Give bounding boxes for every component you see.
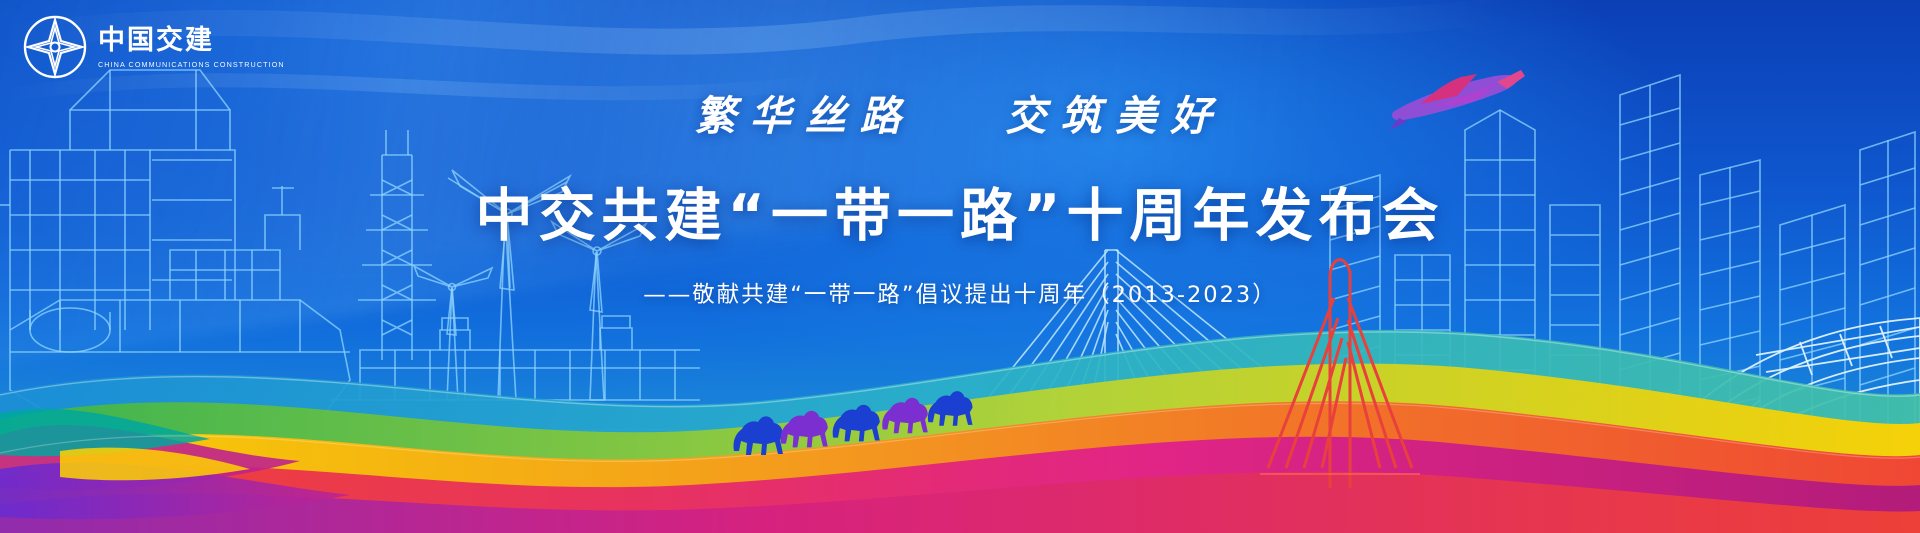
- company-logo: 中国交建 CHINA COMMUNICATIONS CONSTRUCTION: [22, 10, 272, 84]
- banner-subtitle: ——敬献共建“一带一路”倡议提出十周年（2013-2023）: [0, 277, 1920, 309]
- bridge-red-pylon: [1260, 238, 1420, 488]
- kicker-right-text: 交筑美好: [1005, 82, 1225, 142]
- banner-kicker: 繁华丝路 交筑美好: [0, 82, 1920, 142]
- compass-diamond-mark: [22, 14, 88, 80]
- logo-name-cn: 中国交建: [98, 27, 285, 55]
- kicker-left-text: 繁华丝路: [695, 82, 915, 142]
- logo-name-en: CHINA COMMUNICATIONS CONSTRUCTION: [98, 60, 285, 69]
- banner-main-title: 中交共建“一带一路”十周年发布会: [0, 170, 1920, 252]
- event-banner: 中国交建 CHINA COMMUNICATIONS CONSTRUCTION 繁…: [0, 0, 1920, 533]
- camel-caravan: [718, 383, 978, 473]
